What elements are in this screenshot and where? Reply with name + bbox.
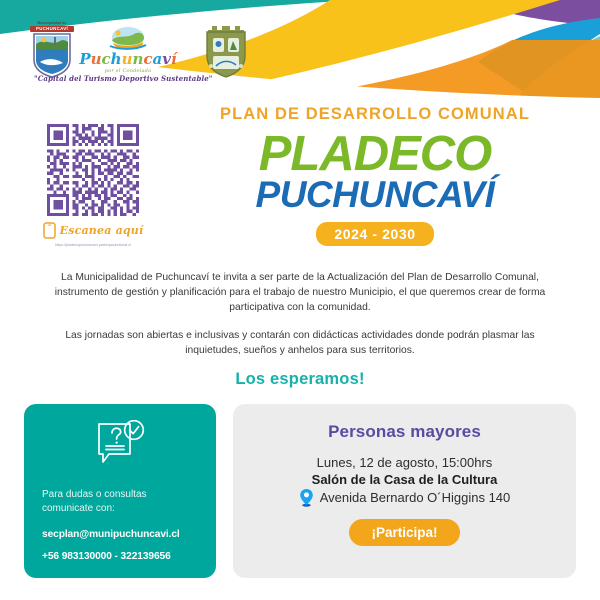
crest-shield-1 [30,32,74,78]
title-block: PLAN DE DESARROLLO COMUNAL PLADECO PUCHU… [165,105,585,246]
header-logos: Municipalidad de PUCHUNCAVÍ [30,22,248,85]
qr-block: Escanea aquí https://pladecopuchuncavi.p… [33,124,153,247]
contact-lead-text: Para dudas o consultas comunicate con: [42,488,198,516]
event-venue: Salón de la Casa de la Cultura [312,472,498,487]
cards-row: Para dudas o consultas comunicate con: s… [24,404,576,578]
los-esperamos-text: Los esperamos! [0,370,600,389]
qr-code-image[interactable] [47,124,139,216]
page-subtitle: PUCHUNCAVÍ [165,176,585,213]
scan-here-row: Escanea aquí [33,222,153,239]
kicker-text: PLAN DE DESARROLLO COMUNAL [165,105,585,124]
event-address: Avenida Bernardo O´Higgins 140 [320,490,511,505]
logo-puchuncavi-turismo: Puchuncaví por el Condelada [80,26,176,74]
page-title: PLADECO [165,131,585,178]
puchuncavi-emblem-icon [104,26,152,52]
event-title: Personas mayores [328,422,481,442]
body-paragraph-1: La Municipalidad de Puchuncaví te invita… [38,270,562,315]
body-paragraph-2: Las jornadas son abiertas e inclusivas y… [38,328,562,358]
years-badge: 2024 - 2030 [316,222,433,246]
body-copy: La Municipalidad de Puchuncaví te invita… [38,270,562,358]
crest-shield-2 [204,22,248,80]
event-datetime: Lunes, 12 de agosto, 15:00hrs [317,455,493,470]
participa-button[interactable]: ¡Participa! [349,519,459,546]
contact-card: Para dudas o consultas comunicate con: s… [24,404,216,578]
municipal-slogan: "Capital del Turismo Deportivo Sustentab… [34,74,179,83]
puchuncavi-wordmark-text: Puchuncaví [79,52,176,67]
scan-here-label: Escanea aquí [60,224,144,237]
event-card: Personas mayores Lunes, 12 de agosto, 15… [233,404,576,578]
crest-over-label: Municipalidad de [30,22,74,26]
location-pin-icon [299,488,314,507]
contact-phone[interactable]: +56 983130000 - 322139656 [42,551,198,562]
event-address-row: Avenida Bernardo O´Higgins 140 [299,488,511,507]
question-bubble-check-icon [94,420,146,470]
contact-email[interactable]: secplan@munipuchuncavi.cl [42,529,198,540]
smartphone-icon [43,222,56,239]
poster-root: Municipalidad de PUCHUNCAVÍ [0,0,600,600]
qr-url-text: https://pladecopuchuncavi.participacionl… [33,243,153,247]
